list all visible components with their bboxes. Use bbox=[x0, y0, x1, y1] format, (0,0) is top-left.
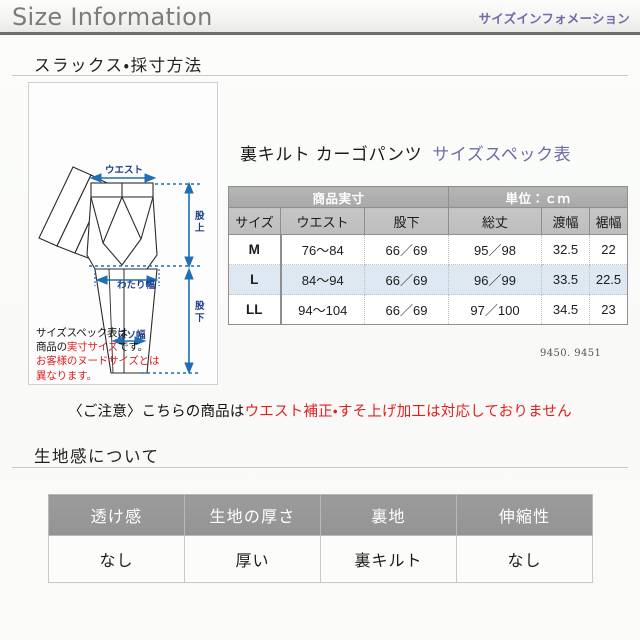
fabric-col-stretch: 伸縮性 bbox=[457, 495, 593, 536]
table-row: L 84〜94 66／69 96／99 33.5 22.5 bbox=[229, 265, 628, 295]
cell-inseam: 66／69 bbox=[365, 295, 449, 325]
product-code: 9450. 9451 bbox=[540, 348, 601, 359]
spec-col-inseam: 股下 bbox=[365, 208, 449, 235]
fabric-header-row: 透け感 生地の厚さ 裏地 伸縮性 bbox=[49, 495, 593, 536]
cell-inseam: 66／69 bbox=[365, 235, 449, 265]
spec-group-header-row: 商品実寸 単位：ｃｍ bbox=[229, 187, 628, 208]
size-information-page: Size Information サイズインフォメーション スラックス・採寸方法 bbox=[0, 0, 640, 640]
spec-group-unit: 単位：ｃｍ bbox=[449, 187, 628, 208]
heading-divider-2 bbox=[12, 467, 628, 468]
fabric-value-row: なし 厚い 裏キルト なし bbox=[49, 536, 593, 583]
product-name: 裏キルト カーゴパンツ bbox=[240, 145, 422, 164]
fabric-table-container: 透け感 生地の厚さ 裏地 伸縮性 なし 厚い 裏キルト なし bbox=[48, 494, 593, 583]
heading-divider-1 bbox=[12, 75, 628, 76]
cell-waist: 84〜94 bbox=[281, 265, 365, 295]
cell-size: LL bbox=[229, 295, 281, 325]
diagram-label-rise: 股 bbox=[194, 211, 205, 222]
page-title-japanese: サイズインフォメーション bbox=[479, 10, 630, 28]
size-spec-table-container: 商品実寸 単位：ｃｍ サイズ ウエスト 股下 総丈 渡幅 裾幅 M 76〜84 … bbox=[228, 186, 627, 325]
cell-hem: 23 bbox=[590, 295, 628, 325]
size-spec-table: 商品実寸 単位：ｃｍ サイズ ウエスト 股下 総丈 渡幅 裾幅 M 76〜84 … bbox=[228, 186, 628, 325]
cell-hem: 22.5 bbox=[590, 265, 628, 295]
spec-title: 裏キルト カーゴパンツサイズスペック表 bbox=[240, 140, 571, 165]
diagram-note-line2: 商品の実寸サイズです。 bbox=[36, 340, 216, 354]
diagram-note-line3: お客様のヌードサイズとは bbox=[36, 354, 216, 368]
cell-thigh: 33.5 bbox=[542, 265, 590, 295]
spec-col-thigh: 渡幅 bbox=[542, 208, 590, 235]
spec-table-label: サイズスペック表 bbox=[432, 145, 571, 164]
section-heading-measuring: スラックス・採寸方法 bbox=[34, 52, 203, 76]
caution-prefix: 〈ご注意〉こちらの商品は bbox=[68, 404, 244, 420]
cell-length: 95／98 bbox=[449, 235, 542, 265]
section-heading-fabric: 生地感について bbox=[34, 443, 160, 467]
spec-col-hem: 裾幅 bbox=[590, 208, 628, 235]
fabric-value-sheerness: なし bbox=[49, 536, 185, 583]
diagram-label-inseam2: 下 bbox=[195, 313, 205, 324]
spec-column-header-row: サイズ ウエスト 股下 総丈 渡幅 裾幅 bbox=[229, 208, 628, 235]
diagram-label-waist: ウエスト bbox=[105, 165, 143, 176]
caution-highlight: ウエスト補正・すそ上げ加工は対応しておりません bbox=[245, 404, 572, 420]
cell-size: L bbox=[229, 265, 281, 295]
spec-col-size: サイズ bbox=[229, 208, 281, 235]
table-row: LL 94〜104 66／69 97／100 34.5 23 bbox=[229, 295, 628, 325]
cell-hem: 22 bbox=[590, 235, 628, 265]
diagram-label-inseam: 股 bbox=[194, 301, 205, 312]
cell-thigh: 34.5 bbox=[542, 295, 590, 325]
cell-length: 97／100 bbox=[449, 295, 542, 325]
spec-group-actual: 商品実寸 bbox=[229, 187, 449, 208]
fabric-value-thickness: 厚い bbox=[185, 536, 321, 583]
fabric-col-sheerness: 透け感 bbox=[49, 495, 185, 536]
cell-inseam: 66／69 bbox=[365, 265, 449, 295]
cell-waist: 76〜84 bbox=[281, 235, 365, 265]
spec-col-waist: ウエスト bbox=[281, 208, 365, 235]
cell-thigh: 32.5 bbox=[542, 235, 590, 265]
fabric-col-thickness: 生地の厚さ bbox=[185, 495, 321, 536]
cell-length: 96／99 bbox=[449, 265, 542, 295]
fabric-value-stretch: なし bbox=[457, 536, 593, 583]
diagram-label-thigh: わたり幅 bbox=[117, 279, 156, 291]
page-header: Size Information サイズインフォメーション bbox=[0, 0, 640, 35]
cell-size: M bbox=[229, 235, 281, 265]
page-title: Size Information bbox=[12, 2, 213, 32]
spec-col-length: 総丈 bbox=[449, 208, 542, 235]
table-row: M 76〜84 66／69 95／98 32.5 22 bbox=[229, 235, 628, 265]
fabric-value-lining: 裏キルト bbox=[321, 536, 457, 583]
diagram-label-rise2: 上 bbox=[195, 222, 205, 234]
diagram-note-line4: 異なります。 bbox=[36, 369, 216, 383]
fabric-col-lining: 裏地 bbox=[321, 495, 457, 536]
fabric-table: 透け感 生地の厚さ 裏地 伸縮性 なし 厚い 裏キルト なし bbox=[48, 494, 593, 583]
diagram-note-line1: サイズスペック表は bbox=[36, 326, 216, 340]
diagram-note: サイズスペック表は 商品の実寸サイズです。 お客様のヌードサイズとは 異なります… bbox=[36, 326, 216, 383]
caution-notice: 〈ご注意〉こちらの商品はウエスト補正・すそ上げ加工は対応しておりません bbox=[0, 400, 640, 421]
cell-waist: 94〜104 bbox=[281, 295, 365, 325]
